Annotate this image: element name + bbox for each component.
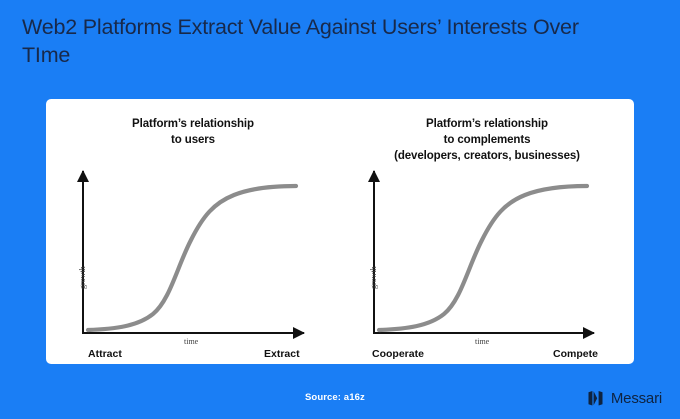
- chart-panel-complements: Platform’s relationship to complements (…: [340, 99, 634, 364]
- x-axis-end-label: Extract: [264, 348, 300, 360]
- x-axis-end-label: Compete: [553, 348, 598, 360]
- chart-plot-users: [46, 99, 340, 364]
- x-axis-label-time: time: [184, 337, 198, 346]
- chart-panel-users: Platform’s relationship to users: [46, 99, 340, 364]
- infographic-card: Web2 Platforms Extract Value Against Use…: [0, 0, 680, 419]
- page-title: Web2 Platforms Extract Value Against Use…: [22, 14, 622, 69]
- y-axis-label-growth: growth: [369, 266, 378, 289]
- x-axis-label-time: time: [475, 337, 489, 346]
- brand-lockup: Messari: [588, 390, 662, 407]
- growth-curve: [88, 186, 296, 330]
- chart-plot-complements: [340, 99, 634, 364]
- x-axis-start-label: Attract: [88, 348, 122, 360]
- source-attribution: Source: a16z: [305, 392, 365, 403]
- chart-card: Platform’s relationship to users: [46, 99, 634, 364]
- y-axis-label-growth: growth: [78, 266, 87, 289]
- brand-name: Messari: [611, 390, 662, 407]
- x-axis-start-label: Cooperate: [372, 348, 424, 360]
- messari-logo-icon: [588, 391, 606, 406]
- growth-curve: [379, 186, 587, 330]
